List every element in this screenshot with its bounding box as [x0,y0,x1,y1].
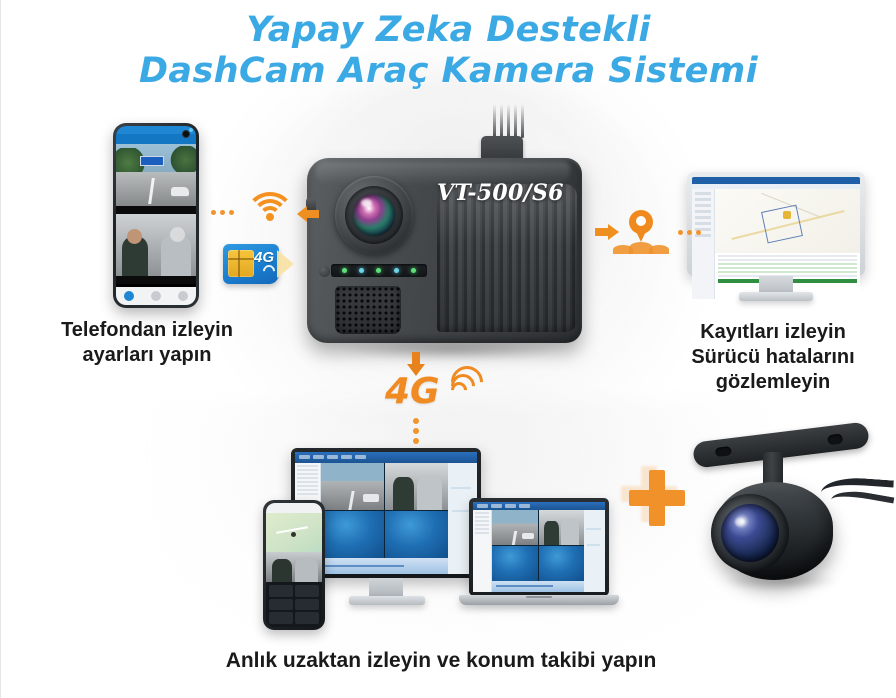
tree-row [297,477,318,479]
phone-road-camera-view [116,144,196,206]
title-line-1: Yapay Zeka Destekli [246,10,651,50]
led-green [376,268,381,273]
toolbar-button[interactable] [491,504,502,508]
tree-row [297,469,318,471]
dashcam-ribs-sheen [437,184,577,332]
phone-screen [116,126,196,305]
road-sign [140,156,164,166]
phone-cabin-camera-view [116,214,196,276]
fourg-label: 4G [385,374,440,410]
wifi-icon [247,192,293,224]
pad-button[interactable] [295,599,319,611]
triangle-right-icon [277,250,294,278]
dot [220,210,225,215]
toolbar-button[interactable] [299,455,310,459]
dot [678,230,683,235]
cms-video-grid[interactable] [492,510,583,580]
wifi-sim-cluster: 4G [211,192,321,302]
toolbar-button[interactable] [477,504,488,508]
wave-outer [444,359,489,404]
monitor-stand [369,578,403,598]
mobile-app-header [266,503,322,513]
dashcam-led-indicator-strip [331,264,427,277]
toolbar-button[interactable] [341,455,352,459]
phone-bottom-device[interactable] [263,500,325,630]
rear-camera-product [681,420,891,610]
cabin-passenger-head [170,227,185,242]
dot [413,428,419,434]
signal-dots-down [413,418,419,444]
pad-button[interactable] [269,599,293,611]
map-route-outline [761,205,803,244]
desktop-monitor-right[interactable] [687,172,865,307]
video-tile-idle-2[interactable] [385,511,448,558]
cms-software-ui [473,502,605,592]
mobile-cabin-video[interactable] [266,552,322,582]
caption-left-line-2: ayarları yapın [19,343,275,368]
caption-bottom: Anlık uzaktan izleyin ve konum takibi ya… [131,648,751,673]
video-tile-idle-2[interactable] [539,546,584,581]
arrow-left-icon [297,206,319,222]
signal-dots-left [211,210,234,215]
wire [500,104,503,138]
rear-camera-drop-shadow [721,572,841,590]
laptop-device[interactable] [459,498,619,616]
toolbar-button[interactable] [519,504,530,508]
arrow-shaft [307,210,319,218]
pad-button[interactable] [295,585,319,597]
cms-video-area [492,510,583,592]
road-tree-right [170,146,196,174]
pad-button[interactable] [269,612,293,624]
phone-camera-icon [182,130,190,138]
table-row [718,263,857,265]
tree-row [475,528,489,530]
map-pin-icon [629,210,653,242]
phone-bottom-nav[interactable] [116,287,196,305]
tree-row [297,473,318,475]
wire [521,104,524,138]
table-row [718,259,857,261]
caption-right-line-1: Kayıtları izleyin [649,320,896,345]
tree-row [475,524,489,526]
tree-row [475,512,489,514]
bottom-device-group [263,448,613,638]
title-line-2: DashCam Araç Kamera Sistemi [1,51,896,92]
phone-video-timestamp-bar-2 [116,276,196,284]
cms-map-panel[interactable] [584,510,605,592]
cms-playback-controls[interactable] [321,558,447,574]
dot [413,438,419,444]
web-app-titlebar [692,177,860,184]
dot [211,210,216,215]
video-tile-road[interactable] [492,510,537,545]
signal-dots-right [678,230,701,235]
video-tile-idle-1[interactable] [492,546,537,581]
cms-toolbar[interactable] [473,502,605,510]
dashcam-product: VT-500/S6 [297,128,587,348]
mobile-control-pad[interactable] [266,582,322,627]
wire [514,104,517,138]
toolbar-button[interactable] [327,455,338,459]
sidebar-row [695,198,711,201]
tree-row [475,516,489,518]
dot [687,230,692,235]
table-row [718,267,857,269]
nav-settings-icon[interactable] [151,291,161,301]
pad-button[interactable] [269,585,293,597]
wifi-dot [266,213,274,221]
monitor-base [349,596,425,605]
road-vehicle [171,187,189,196]
caption-right: Kayıtları izleyin Sürücü hatalarını gözl… [649,320,896,395]
mobile-map-view[interactable] [266,513,322,552]
fleet-map-panel[interactable] [715,189,860,253]
arrow-shaft [595,228,608,236]
tree-row [297,485,318,487]
video-tile-road[interactable] [321,463,384,510]
mobile-app-ui [266,503,322,627]
video-tile-idle-1[interactable] [321,511,384,558]
sim-chip [228,250,254,277]
poster-canvas: Yapay Zeka Destekli DashCam Araç Kamera … [0,0,896,698]
led-green [411,268,416,273]
toolbar-button[interactable] [505,504,516,508]
table-row [718,271,857,273]
dashcam-model-label: VT-500/S6 [437,180,587,206]
poster-title: Yapay Zeka Destekli DashCam Araç Kamera … [1,10,896,92]
video-tile-cabin[interactable] [385,463,448,510]
tree-row [475,532,489,534]
cms-playback-controls[interactable] [492,581,583,592]
led-green [342,268,347,273]
nav-profile-icon[interactable] [178,291,188,301]
phone-video-timestamp-bar-1 [116,206,196,214]
cms-device-tree[interactable] [473,510,492,592]
plus-icon [629,470,685,526]
phone-left-device[interactable] [113,123,199,308]
plus-horizontal [629,490,685,506]
sim-card-icon: 4G [223,244,279,284]
sidebar-row [695,204,711,207]
wire [493,104,496,138]
signal-waves-icon [451,372,477,398]
fourg-downlink-cluster: 4G [379,352,489,460]
nav-home-icon[interactable] [124,291,134,301]
cabin-driver-head [127,229,142,244]
sim-4g-label: 4G [254,250,274,265]
laptop-keyboard-deck [459,595,619,605]
caption-left-line-1: Telefondan izleyin [19,318,275,343]
dashcam-lens-specular [361,199,372,207]
dashcam-speaker-grille [335,286,401,334]
dot [229,210,234,215]
pad-button[interactable] [295,612,319,624]
tree-row [297,493,318,495]
led-blue [394,268,399,273]
pin-hole [636,216,646,226]
rear-camera-lens-glass [721,504,779,562]
caption-right-line-3: gözlemleyin [649,370,896,395]
gps-tracking-cluster [595,208,701,272]
tree-row [475,520,489,522]
dot [696,230,701,235]
phone-screen [266,503,322,627]
table-row [718,255,857,257]
video-tile-cabin[interactable] [539,510,584,545]
caption-right-line-2: Sürücü hatalarını [649,345,896,370]
laptop-screen [473,502,605,592]
caption-left: Telefondan izleyin ayarları yapın [19,318,275,368]
cms-body [473,510,605,592]
tree-row [297,489,318,491]
dashcam-lens-glass [353,194,395,236]
cms-video-grid[interactable] [321,463,447,559]
wire [507,104,510,138]
dashcam-wires [491,104,527,138]
cms-video-area [321,463,447,574]
toolbar-button[interactable] [355,455,366,459]
arrow-head [297,206,307,222]
map-fold [649,245,669,254]
led-blue [359,268,364,273]
toolbar-button[interactable] [313,455,324,459]
tree-row [297,481,318,483]
tree-row [297,465,318,467]
monitor-base [739,292,813,301]
sidebar-row [695,192,711,195]
dot [413,418,419,424]
map-vehicle-marker [783,211,791,219]
